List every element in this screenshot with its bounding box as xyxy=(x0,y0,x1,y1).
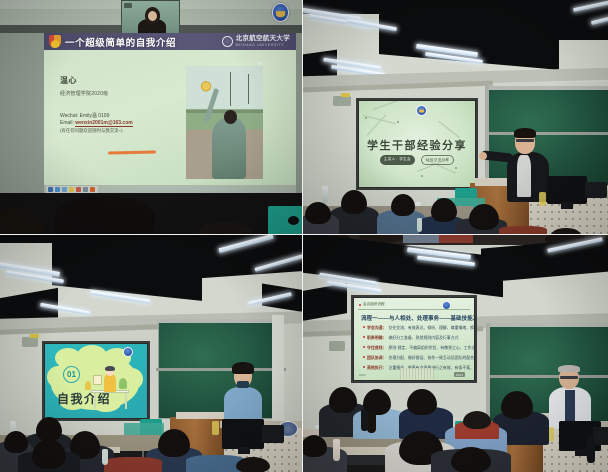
slide-tab: 会议组织流程 xyxy=(359,302,385,307)
taskbar[interactable] xyxy=(46,186,98,193)
monitor-stand xyxy=(575,449,587,456)
webcam-person-face xyxy=(148,11,157,21)
slide-text-block: 温心 经济管理学院2020级 Wechat: Emily温 0109 Email… xyxy=(60,75,180,134)
presenter-hair xyxy=(232,362,254,374)
water-bottle xyxy=(333,439,340,461)
bullet-key: 团队协调： xyxy=(367,355,386,361)
audience-head xyxy=(303,435,327,457)
email-label: Email: xyxy=(60,120,74,126)
slide-surface[interactable]: 01 自我介绍 xyxy=(45,344,147,418)
slide-page-badge: 2024 xyxy=(454,372,465,377)
thermos-bottle xyxy=(361,409,368,431)
taskbar-notes-icon[interactable] xyxy=(69,187,74,192)
email-line: Email: wenxin2001m@163.com xyxy=(60,120,180,127)
audience-head xyxy=(305,202,331,224)
illustration-person-body xyxy=(104,374,116,392)
taskbar-music-icon[interactable] xyxy=(76,187,81,192)
volleyball-action-photo xyxy=(186,66,263,179)
water-bottle xyxy=(322,186,328,203)
photo-person-head xyxy=(224,110,237,124)
illustration-desk-leg xyxy=(94,393,96,409)
taskbar-browser-icon[interactable] xyxy=(55,187,60,192)
slide-tag-row: 主讲人：学生会 经验交流分享 xyxy=(359,155,475,165)
orange-highlight-stroke xyxy=(108,150,156,154)
illustration-desk-leg xyxy=(125,393,127,409)
bullet-value: 合理分配、做好督促、协作一致互动及团队的配合、团队一致、不断自我完善提升 xyxy=(388,355,474,361)
slide-surface[interactable]: 会议组织流程 流程一——与人相处、处理事务——基础技能及人际交往 学会沟通： 交… xyxy=(354,298,474,380)
webcam-label-chip xyxy=(124,3,132,8)
audience-head xyxy=(341,190,367,214)
decorative-net-dot xyxy=(455,167,457,169)
slide-stamp: 2024 xyxy=(359,373,366,377)
illustration-person-hair xyxy=(105,366,115,371)
audience-head xyxy=(463,411,491,429)
email-value: wenxin2001m@163.com xyxy=(75,120,132,127)
bullet-icon xyxy=(363,336,365,338)
audience-head xyxy=(501,391,533,419)
chair-hole xyxy=(288,216,299,225)
chalkboard-rail xyxy=(156,319,286,323)
bullet-key: 守住底线： xyxy=(367,345,386,351)
wall-speaker xyxy=(329,341,345,351)
audience-head xyxy=(198,222,252,235)
university-name-en: BEIHANG UNIVERSITY xyxy=(236,44,290,47)
bullet-icon xyxy=(363,326,365,328)
presenter-department: 经济管理学院2020级 xyxy=(60,90,180,97)
wechat-line: Wechat: Emily温 0109 xyxy=(60,113,180,120)
chalkboard-rail xyxy=(487,86,608,90)
university-seal-icon xyxy=(222,36,233,47)
foreground-shoulder-red xyxy=(439,235,473,243)
audience-ponytail xyxy=(367,411,376,433)
podium-monitor xyxy=(547,176,587,204)
contact-note: (有任何问题欢迎随时与我交流~) xyxy=(60,128,180,134)
wall-speaker xyxy=(333,96,351,106)
slide-title: 一个超级简单的自我介绍 xyxy=(65,35,176,49)
light-pole-icon xyxy=(230,72,231,106)
audience-body xyxy=(499,226,547,235)
water-bottle xyxy=(102,449,108,465)
audience-head xyxy=(407,389,437,415)
audience-head xyxy=(469,204,499,230)
podium-equipment xyxy=(262,425,284,443)
audience-head xyxy=(431,198,457,222)
decorative-net-line xyxy=(373,101,401,109)
taskbar-settings-icon[interactable] xyxy=(83,187,88,192)
audience-head xyxy=(236,457,270,472)
contact-block: Wechat: Emily温 0109 Email: wenxin2001m@1… xyxy=(60,113,180,134)
panel-slide-self-introduction[interactable]: 一个超级简单的自我介绍 北京航空航天大学 BEIHANG UNIVERSITY … xyxy=(0,0,303,235)
podium-monitor xyxy=(222,419,264,449)
presenter-shirt xyxy=(517,155,531,197)
chalkboard-edge xyxy=(485,86,489,186)
slide-tag-primary: 主讲人：学生会 xyxy=(380,155,415,165)
photo-person-arm xyxy=(204,88,219,122)
bullet-value: 交往交流、有效表达、倾听、理解、尊重情绪、换位 xyxy=(388,325,474,331)
chalkboard-divider xyxy=(487,375,608,378)
university-name-cn: 北京航空航天大学 xyxy=(236,36,290,43)
panel-female-presenter[interactable]: 01 自我介绍 xyxy=(0,235,303,472)
chalkboard-rail xyxy=(487,323,608,327)
university-logo: 北京航空航天大学 BEIHANG UNIVERSITY xyxy=(222,36,290,47)
audience-head xyxy=(4,431,28,453)
bullet-value: 原则·规定、不偏离组织宗旨、有敬畏之心、工作边界意识 xyxy=(388,345,474,351)
thermos-bottle xyxy=(587,437,595,463)
bullet-key: 职责明确： xyxy=(367,335,386,341)
bullet-key: 学会沟通： xyxy=(367,325,386,331)
slide-bullet-row: 职责明确： 做好分工准备、熟悉规则内容及行事方式 xyxy=(363,335,458,341)
slide-surface: 一个超级简单的自我介绍 北京航空航天大学 BEIHANG UNIVERSITY … xyxy=(44,33,296,185)
bullet-value: 做好分工准备、熟悉规则内容及行事方式 xyxy=(388,335,458,341)
water-bottle xyxy=(417,218,422,232)
presenter-name: 温心 xyxy=(60,75,180,86)
bullet-icon xyxy=(363,356,365,358)
slide-surface[interactable]: 学生干部经验分享 主讲人：学生会 经验交流分享 xyxy=(359,101,475,187)
slide-divider xyxy=(358,309,470,310)
slide-title-bar: 一个超级简单的自我介绍 北京航空航天大学 BEIHANG UNIVERSITY xyxy=(44,33,296,50)
monitor-stand xyxy=(238,447,250,454)
podium-equipment xyxy=(593,427,608,445)
foreground-shoulder xyxy=(403,235,439,243)
light-pole-icon xyxy=(248,74,249,104)
monitor-stand xyxy=(561,202,573,209)
podium-equipment xyxy=(585,182,607,198)
audience-head xyxy=(36,417,62,441)
bullet-icon xyxy=(363,346,365,348)
audience-head xyxy=(391,194,415,216)
slide-title: 学生干部经验分享 xyxy=(359,137,475,153)
section-number: 01 xyxy=(63,366,80,383)
illustration-plant xyxy=(119,378,127,389)
slide-tag-secondary: 经验交流分享 xyxy=(421,155,454,165)
panel-male-presenter[interactable]: 学生干部经验分享 主讲人：学生会 经验交流分享 xyxy=(303,0,608,235)
university-emblem-badge xyxy=(272,3,289,22)
taskbar-finder-icon[interactable] xyxy=(48,187,53,192)
presenter-hand xyxy=(479,152,487,160)
slide-tab-label: 会议组织流程 xyxy=(363,302,385,307)
chalkboard-edge xyxy=(486,323,490,425)
university-seal-icon xyxy=(123,347,133,357)
taskbar-mail-icon[interactable] xyxy=(62,187,67,192)
tab-dot-icon xyxy=(359,304,361,306)
audience-head xyxy=(32,439,66,469)
presenter-collar xyxy=(237,381,249,388)
decorative-net-dot xyxy=(421,175,423,177)
presenter-hair xyxy=(514,128,536,138)
slide-bullet-row: 学会沟通： 交往交流、有效表达、倾听、理解、尊重情绪、换位 xyxy=(363,325,474,331)
audience-head xyxy=(329,387,357,413)
illustration-chart xyxy=(93,375,102,385)
slide-bullet-row: 团队协调： 合理分配、做好督促、协作一致互动及团队的配合、团队一致、不断自我完善… xyxy=(363,355,474,361)
panel-senior-speaker[interactable]: 会议组织流程 流程一——与人相处、处理事务——基础技能及人际交往 学会沟通： 交… xyxy=(303,235,608,472)
presenter-bald-head xyxy=(558,365,580,372)
audience-head xyxy=(451,447,491,472)
wall-speaker xyxy=(22,337,38,347)
presenter-glasses xyxy=(560,376,578,379)
wall-pillar xyxy=(272,315,284,425)
slide-bullet-row: 守住底线： 原则·规定、不偏离组织宗旨、有敬畏之心、工作边界意识 xyxy=(363,345,474,351)
slide-footer-image xyxy=(400,368,434,379)
slide-heading: 流程一——与人相处、处理事务——基础技能及人际交往 xyxy=(361,314,474,322)
decorative-net-line xyxy=(439,121,460,137)
bullet-key: 高效执行： xyxy=(367,365,386,371)
chalkboard-divider xyxy=(485,132,608,135)
photo-person-body xyxy=(212,118,246,179)
bullet-icon xyxy=(363,366,365,368)
audience-head xyxy=(158,429,190,457)
wall-marker xyxy=(341,93,350,97)
podium-note xyxy=(212,421,219,435)
illustration-plant xyxy=(85,381,91,390)
wall-marker xyxy=(30,334,39,338)
photo-collage: 一个超级简单的自我介绍 北京航空航天大学 BEIHANG UNIVERSITY … xyxy=(0,0,608,472)
screen-hotspot xyxy=(258,62,261,65)
medal-icon xyxy=(49,35,61,48)
audience-head xyxy=(55,196,155,235)
lectern-papers xyxy=(176,412,228,419)
chalkboard-divider xyxy=(156,368,286,371)
webcam-video-tile[interactable] xyxy=(121,0,180,34)
decorative-net-dot xyxy=(397,121,399,123)
presenter-glasses xyxy=(516,139,534,142)
decorative-net-dot xyxy=(365,117,367,119)
taskbar-ppt-icon[interactable] xyxy=(90,187,95,192)
university-seal-icon xyxy=(416,105,427,116)
audience-body-red xyxy=(104,457,162,472)
podium-note xyxy=(539,192,546,206)
